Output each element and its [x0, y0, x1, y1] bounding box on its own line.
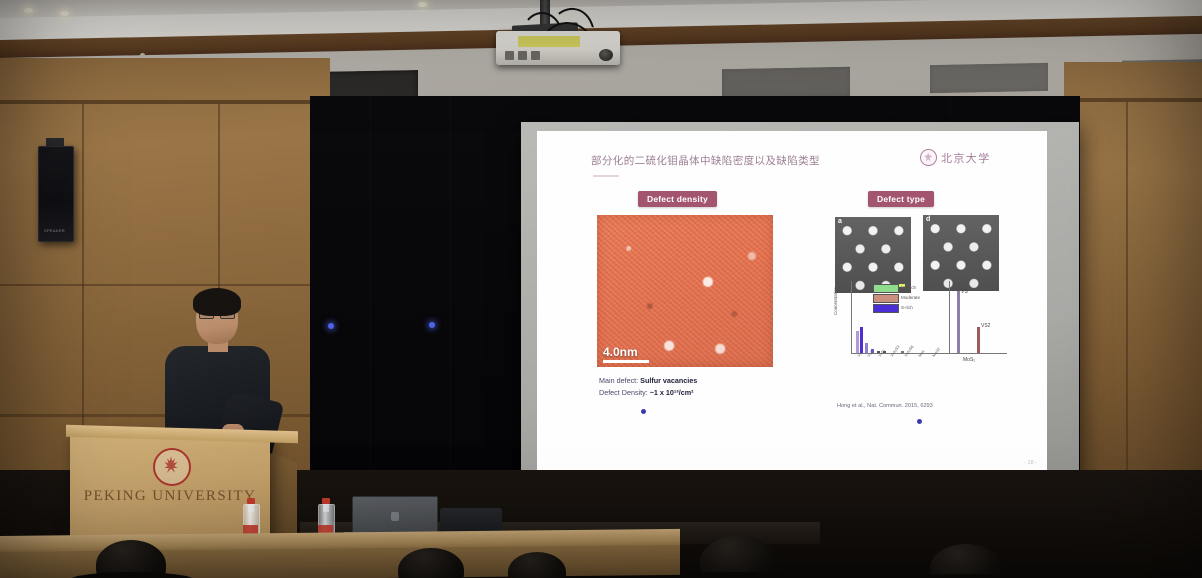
ceiling-panel — [722, 67, 850, 99]
chart-group-label: MoS₂ — [963, 357, 975, 363]
slide-number: - 18 - — [1024, 460, 1037, 466]
wall-trim-right — [1064, 98, 1202, 102]
wall-trim-left — [0, 100, 330, 104]
bottle-cap — [322, 498, 330, 504]
chart-x-tick: Mos — [917, 349, 925, 358]
lecture-hall-photo: SPEAKER 部分化的二硫化钼晶体中缺陷密度以及缺陷类型 北京大学 Defec… — [0, 0, 1202, 578]
legend-label-s-rich: S-rich — [901, 305, 913, 310]
chart-x-axis — [851, 353, 1007, 354]
ceiling-panel — [930, 63, 1048, 93]
chart-bar — [856, 331, 859, 353]
ceiling-light — [418, 2, 427, 7]
caption-main-defect: Main defect: Sulfur vacancies — [599, 376, 697, 385]
ceiling-bolt — [880, 45, 885, 49]
chart-y-axis-label: Concentration — [833, 287, 838, 315]
caption-defect-density-value: ~1 x 10¹³/cm² — [650, 388, 694, 397]
presenter-hair — [193, 288, 241, 316]
chart-bar — [957, 291, 960, 353]
presenter-laptop-screen — [352, 496, 438, 536]
slide-title-underline — [593, 175, 619, 177]
legend-chip-mo-rich — [873, 284, 899, 293]
projector-vent-icon — [518, 51, 527, 60]
projector-vent-icon — [505, 51, 514, 60]
caption-main-defect-prefix: Main defect: — [599, 376, 640, 385]
caption-defect-density: Defect Density: ~1 x 10¹³/cm² — [599, 388, 693, 397]
ceiling-bolt — [1054, 43, 1059, 47]
slide-university-name: 北京大学 — [941, 150, 991, 166]
legend-label-mo-rich: Mo-rich — [901, 285, 916, 290]
chart-x-tick: VMoS3 — [889, 344, 901, 358]
legend-chip-s-rich — [873, 304, 899, 313]
tem-image-d: d — [923, 215, 999, 291]
curtain-fold — [370, 96, 371, 496]
wall-seam — [1126, 102, 1128, 502]
chart-x-tick: VMoS6 — [903, 344, 915, 358]
chart-bar-label: VS2 — [981, 323, 990, 329]
ceiling-light — [60, 11, 69, 16]
tem-panel-label-d: d — [926, 216, 930, 223]
projection-screen: 部分化的二硫化钼晶体中缺陷密度以及缺陷类型 北京大学 Defect densit… — [537, 131, 1047, 471]
chart-bar — [977, 327, 980, 353]
pku-seal-icon — [920, 149, 937, 166]
projection-screen-frame: 部分化的二硫化钼晶体中缺陷密度以及缺陷类型 北京大学 Defect densit… — [521, 122, 1079, 504]
wall-seam — [0, 284, 310, 286]
projector-vent-icon — [531, 51, 540, 60]
pku-seal-icon — [153, 448, 191, 486]
slide-title: 部分化的二硫化钼晶体中缺陷密度以及缺陷类型 — [591, 153, 820, 168]
laptop-logo-icon — [391, 512, 399, 521]
slide-citation: Hong et al., Nat. Commun. 2015, 6293 — [837, 403, 933, 409]
defect-bar-chart: Mo-rich Moderate S-rich VS VS2 — [837, 281, 1007, 367]
bottle-cap — [247, 498, 255, 504]
tag-defect-type: Defect type — [868, 191, 934, 207]
projector-lens — [599, 49, 613, 61]
caption-main-defect-value: Sulfur vacancies — [640, 376, 697, 385]
scalebar-line — [603, 360, 649, 363]
ceiling-light — [24, 8, 33, 13]
presentation-slide: 部分化的二硫化钼晶体中缺陷密度以及缺陷类型 北京大学 Defect densit… — [537, 131, 1047, 471]
ceiling-projector — [496, 31, 620, 65]
wall-seam — [82, 100, 84, 452]
chart-bar — [860, 327, 863, 353]
legend-chip-moderate — [873, 294, 899, 303]
caption-defect-density-prefix: Defect Density: — [599, 388, 650, 397]
curtain-fold — [450, 96, 451, 496]
bullet-dot — [917, 419, 922, 424]
podium-institution-label: PEKING UNIVERSITY — [78, 488, 262, 505]
tag-defect-density: Defect density — [638, 191, 717, 207]
led-indicator — [328, 323, 334, 329]
wall-speaker: SPEAKER — [38, 146, 74, 242]
ceiling-bolt — [140, 53, 145, 57]
scalebar-label: 4.0nm — [603, 345, 638, 359]
speaker-brand-label: SPEAKER — [44, 228, 65, 233]
legend-label-moderate: Moderate — [901, 295, 920, 300]
chart-y-axis — [851, 281, 852, 353]
chart-bar-label: VS — [961, 289, 968, 295]
led-indicator — [429, 322, 435, 328]
chart-divider-axis — [949, 281, 950, 353]
stm-defect-density-image: 4.0nm — [597, 215, 773, 367]
bullet-dot — [641, 409, 646, 414]
projector-label-strip — [518, 36, 580, 47]
wall-wood-right — [1064, 62, 1202, 502]
tem-panel-label-a: a — [838, 218, 842, 225]
